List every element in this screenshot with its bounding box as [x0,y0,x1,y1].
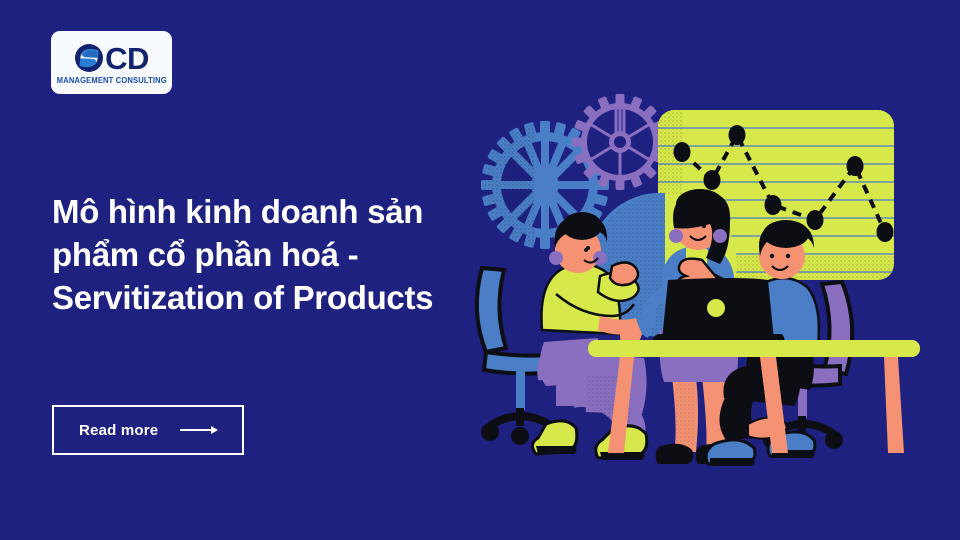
business-team-meeting-illustration [460,80,940,480]
logo-mark-row: CD [74,42,149,74]
read-more-label: Read more [79,422,158,439]
page-title: Mô hình kinh doanh sản phẩm cổ phần hoá … [52,190,472,319]
promo-banner: CD MANAGEMENT CONSULTING Mô hình kinh do… [0,0,960,540]
logo-wordmark: CD [105,43,149,74]
logo[interactable]: CD MANAGEMENT CONSULTING [51,31,172,94]
swirl-o-icon [74,43,104,73]
read-more-button[interactable]: Read more [52,405,244,455]
laptop [653,278,785,344]
logo-tagline: MANAGEMENT CONSULTING [56,76,166,86]
gear-small-purple [572,94,668,190]
arrow-right-icon [180,424,220,436]
